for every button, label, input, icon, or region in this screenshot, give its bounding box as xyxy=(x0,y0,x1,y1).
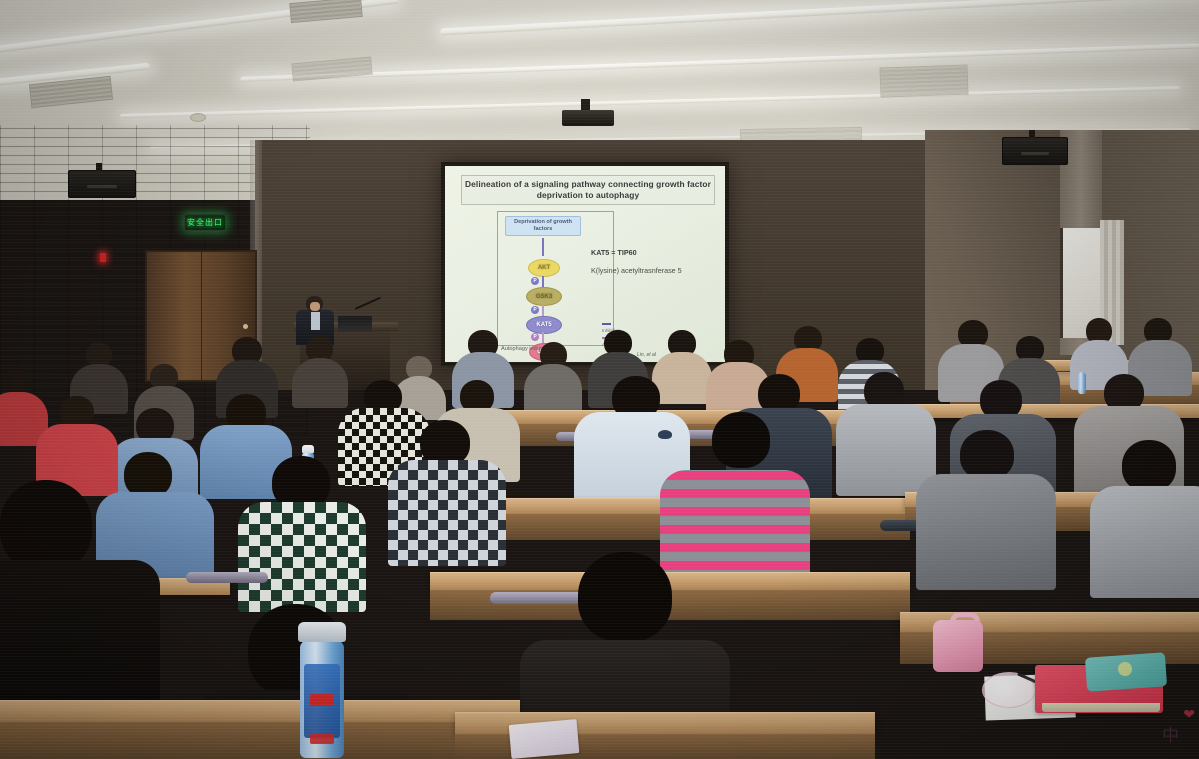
phospho-badge: P xyxy=(531,306,539,314)
lecture-hall-photograph: 安全出口 Delineation of a signaling pathway … xyxy=(0,0,1199,759)
bottle-cap xyxy=(302,445,314,453)
ceiling-vent xyxy=(880,64,969,97)
pathway-arrow xyxy=(542,238,544,256)
wall-speaker-left xyxy=(68,170,136,198)
notebook-page-edge xyxy=(1042,703,1160,712)
watermark-character: 中 xyxy=(1162,728,1179,745)
person-torso xyxy=(1090,486,1199,598)
pathway-node-gsk3: GSK3 xyxy=(526,287,562,306)
ceiling-light-strip xyxy=(120,86,1180,118)
desk-front-panel xyxy=(0,722,520,759)
pathway-arrow xyxy=(542,276,544,287)
phospho-badge: P xyxy=(531,277,539,285)
pathway-node-kat5: KAT5 xyxy=(526,316,562,334)
pathway-input-node: Deprivation of growth factors xyxy=(505,216,581,236)
speaker-mount xyxy=(96,163,102,171)
slide-title: Delineation of a signaling pathway conne… xyxy=(461,175,715,205)
emergency-exit-sign: 安全出口 xyxy=(184,214,226,231)
ceiling-vent xyxy=(291,57,372,82)
person-head xyxy=(1122,440,1176,492)
person-head xyxy=(712,412,770,468)
speaker-mount xyxy=(1029,130,1035,138)
presenter-laptop xyxy=(338,316,372,332)
ceiling-vent xyxy=(289,0,362,23)
person-head xyxy=(0,480,92,572)
bottle-label-accent xyxy=(310,734,334,744)
bottle-cap[interactable] xyxy=(298,622,346,642)
chair-back xyxy=(186,572,268,583)
red-indicator-lamp-icon xyxy=(100,253,106,262)
pathway-arrow xyxy=(542,305,544,316)
person-torso xyxy=(652,352,712,404)
presenter-shirt xyxy=(311,312,320,330)
slide-citation: Lin, et al xyxy=(637,352,656,358)
presenter-face xyxy=(310,302,320,311)
watermark-heart-icon: ❤ xyxy=(1183,707,1195,721)
ceiling-light-strip xyxy=(240,43,1199,82)
person-torso-grey-plaid xyxy=(388,460,506,566)
person-torso-green-plaid xyxy=(238,502,366,612)
desk-row-front-left xyxy=(0,700,520,723)
slide-right-text: KAT5 = TIP60 K(lysine) acetyltrasnferase… xyxy=(591,244,713,280)
pathway-arrow xyxy=(542,332,544,343)
stack-of-cards[interactable] xyxy=(509,719,580,759)
person-torso-grey xyxy=(916,474,1056,590)
person-torso-grey-hoodie xyxy=(836,404,936,496)
wall-speaker-right xyxy=(1002,137,1068,165)
water-bottle[interactable] xyxy=(1078,372,1086,394)
bottle-label-accent xyxy=(310,694,334,706)
slide-kat5-definition: KAT5 = TIP60 xyxy=(591,244,713,262)
person-torso xyxy=(524,364,582,414)
smoke-detector-icon xyxy=(190,113,206,122)
phospho-badge: P xyxy=(531,333,539,341)
exit-sign-label: 安全出口 xyxy=(187,219,223,227)
small-cup[interactable] xyxy=(658,430,672,439)
pathway-node-akt: AKT xyxy=(528,259,560,277)
water-bottle-front[interactable] xyxy=(300,640,344,758)
inhibition-marker-icon xyxy=(602,323,611,325)
pink-handbag[interactable] xyxy=(933,620,983,672)
person-head xyxy=(578,552,672,642)
person-head xyxy=(960,430,1014,480)
person-torso-pink-striped xyxy=(660,470,810,588)
ceiling-light-strip xyxy=(440,0,1199,35)
slide-kat5-expansion: K(lysine) acetyltrasnferase 5 xyxy=(591,262,713,280)
ceiling-projector xyxy=(562,110,614,126)
desk-row-middle xyxy=(500,410,890,425)
door-knob-icon[interactable] xyxy=(243,324,248,329)
person-torso xyxy=(292,358,348,408)
